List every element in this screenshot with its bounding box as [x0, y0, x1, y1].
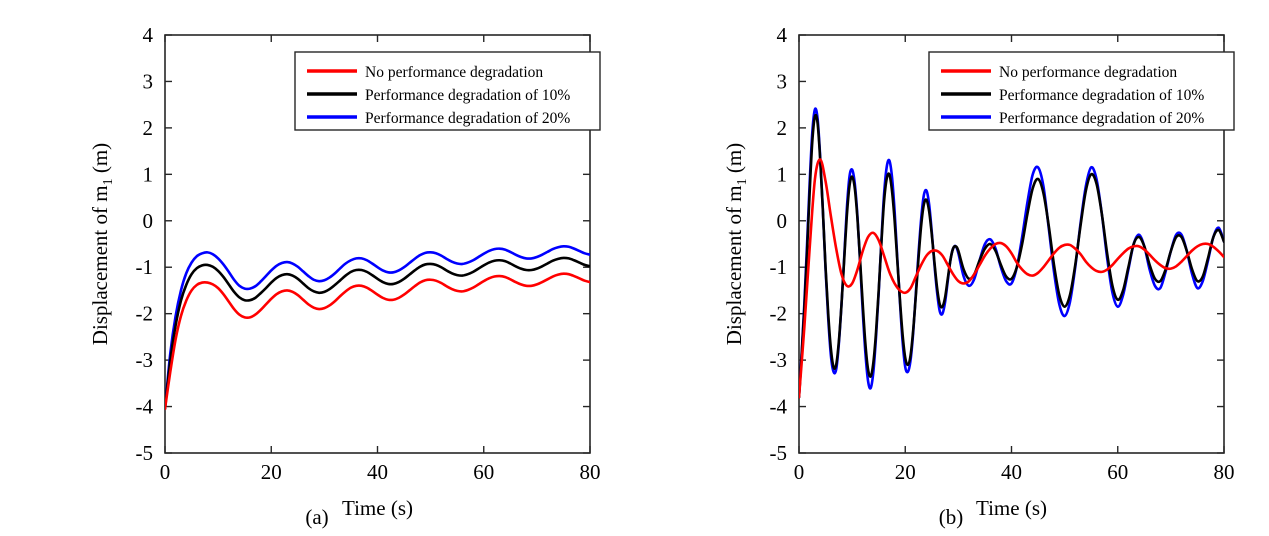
- x-tick-label: 80: [1214, 460, 1235, 484]
- x-tick-label: 40: [1001, 460, 1022, 484]
- subplot-caption-a: (a): [0, 505, 634, 530]
- y-tick-label: -5: [770, 441, 788, 465]
- subplot-caption-b: (b): [634, 505, 1268, 530]
- subplot-panel-a: 020406080-5-4-3-2-101234Time (s)Displace…: [0, 0, 634, 536]
- y-tick-label: 1: [777, 162, 788, 186]
- legend-label: Performance degradation of 20%: [365, 110, 570, 127]
- svg-text:Displacement of m1 (m): Displacement of m1 (m): [88, 143, 116, 345]
- y-tick-label: -1: [136, 255, 154, 279]
- x-tick-label: 60: [473, 460, 494, 484]
- y-axis-title: Displacement of m1 (m): [88, 143, 116, 345]
- y-tick-label: -4: [136, 395, 154, 419]
- y-tick-label: 4: [143, 23, 154, 47]
- y-tick-label: 0: [777, 209, 788, 233]
- legend: No performance degradationPerformance de…: [929, 52, 1234, 130]
- y-tick-label: -4: [770, 395, 788, 419]
- figure-container: 020406080-5-4-3-2-101234Time (s)Displace…: [0, 0, 1269, 536]
- x-tick-label: 0: [794, 460, 805, 484]
- legend-label: No performance degradation: [365, 64, 543, 81]
- plot-b: 020406080-5-4-3-2-101234Time (s)Displace…: [634, 0, 1268, 536]
- y-tick-label: 2: [143, 116, 154, 140]
- legend: No performance degradationPerformance de…: [295, 52, 600, 130]
- subplot-panel-b: 020406080-5-4-3-2-101234Time (s)Displace…: [634, 0, 1268, 536]
- y-tick-label: 3: [777, 69, 788, 93]
- y-tick-label: 3: [143, 69, 154, 93]
- y-tick-label: 4: [777, 23, 788, 47]
- svg-text:Displacement of m1 (m): Displacement of m1 (m): [722, 143, 750, 345]
- x-tick-label: 40: [367, 460, 388, 484]
- y-axis-title: Displacement of m1 (m): [722, 143, 750, 345]
- y-tick-label: -5: [136, 441, 154, 465]
- y-tick-label: -3: [136, 348, 154, 372]
- legend-label: Performance degradation of 10%: [365, 87, 570, 104]
- x-tick-label: 20: [261, 460, 282, 484]
- legend-label: Performance degradation of 20%: [999, 110, 1204, 127]
- legend-label: Performance degradation of 10%: [999, 87, 1204, 104]
- y-tick-label: 0: [143, 209, 154, 233]
- x-tick-label: 0: [160, 460, 171, 484]
- y-tick-label: -1: [770, 255, 788, 279]
- legend-label: No performance degradation: [999, 64, 1177, 81]
- x-tick-label: 80: [580, 460, 601, 484]
- y-tick-label: 1: [143, 162, 154, 186]
- y-tick-label: 2: [777, 116, 788, 140]
- plot-a: 020406080-5-4-3-2-101234Time (s)Displace…: [0, 0, 634, 536]
- y-tick-label: -2: [770, 302, 788, 326]
- x-tick-label: 60: [1107, 460, 1128, 484]
- y-tick-label: -2: [136, 302, 154, 326]
- y-tick-label: -3: [770, 348, 788, 372]
- x-tick-label: 20: [895, 460, 916, 484]
